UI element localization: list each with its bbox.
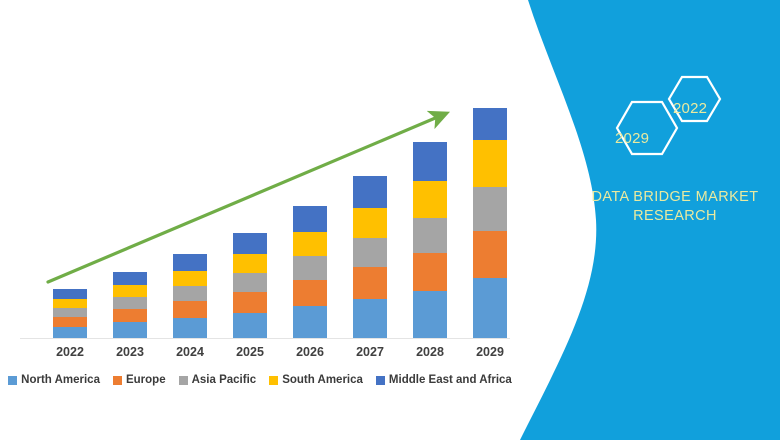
bar-2028 (413, 142, 447, 338)
bar-segment-2029-north-america (473, 278, 507, 338)
axis-baseline (20, 338, 510, 339)
x-tick-2023: 2023 (100, 345, 160, 359)
x-tick-2028: 2028 (400, 345, 460, 359)
bar-segment-2023-asia-pacific (113, 297, 147, 309)
market-growth-chart-page: 20222023202420252026202720282029 North A… (0, 0, 780, 440)
bar-segment-2026-asia-pacific (293, 256, 327, 280)
bar-segment-2024-asia-pacific (173, 286, 207, 301)
bar-segment-2028-middle-east-and-africa (413, 142, 447, 181)
bar-segment-2023-north-america (113, 322, 147, 338)
bar-segment-2024-europe (173, 301, 207, 318)
bar-2022 (53, 289, 87, 338)
bar-segment-2025-europe (233, 292, 267, 313)
bar-2029 (473, 108, 507, 338)
bar-segment-2025-north-america (233, 313, 267, 338)
bar-2025 (233, 233, 267, 338)
bar-segment-2028-south-america (413, 181, 447, 218)
bar-segment-2022-south-america (53, 299, 87, 308)
legend-swatch-icon (269, 376, 278, 385)
legend-swatch-icon (8, 376, 17, 385)
bar-segment-2022-europe (53, 317, 87, 327)
x-tick-2027: 2027 (340, 345, 400, 359)
x-tick-2026: 2026 (280, 345, 340, 359)
brand-company-line1: DATA BRIDGE MARKET (570, 188, 780, 207)
legend-label: Asia Pacific (192, 374, 257, 386)
bar-2027 (353, 176, 387, 338)
bar-segment-2027-north-america (353, 299, 387, 338)
bar-2023 (113, 272, 147, 338)
hexagon-2029-label: 2029 (615, 130, 649, 147)
bar-segment-2022-north-america (53, 327, 87, 338)
bar-segment-2027-south-america (353, 208, 387, 238)
legend-label: South America (282, 374, 363, 386)
legend-item-middle-east-and-africa[interactable]: Middle East and Africa (376, 374, 512, 386)
bar-2024 (173, 254, 207, 338)
bar-segment-2028-asia-pacific (413, 218, 447, 253)
bar-group (20, 20, 510, 338)
hexagon-logo-group: 2029 2022 (570, 70, 780, 160)
bar-segment-2029-europe (473, 231, 507, 278)
bar-segment-2028-europe (413, 253, 447, 291)
legend-label: North America (21, 374, 100, 386)
legend-label: Middle East and Africa (389, 374, 512, 386)
bar-segment-2026-north-america (293, 306, 327, 338)
x-tick-2022: 2022 (40, 345, 100, 359)
bar-segment-2027-europe (353, 267, 387, 299)
bar-segment-2029-south-america (473, 140, 507, 187)
bar-segment-2025-middle-east-and-africa (233, 233, 267, 254)
x-axis-tick-labels: 20222023202420252026202720282029 (20, 345, 510, 365)
legend-item-north-america[interactable]: North America (8, 374, 100, 386)
bar-segment-2024-north-america (173, 318, 207, 338)
bar-segment-2023-south-america (113, 285, 147, 297)
bar-segment-2022-asia-pacific (53, 308, 87, 317)
bar-segment-2027-middle-east-and-africa (353, 176, 387, 208)
bar-segment-2026-europe (293, 280, 327, 306)
bar-segment-2027-asia-pacific (353, 238, 387, 267)
legend-swatch-icon (376, 376, 385, 385)
x-tick-2029: 2029 (460, 345, 520, 359)
bar-segment-2023-europe (113, 309, 147, 322)
legend-label: Europe (126, 374, 166, 386)
bar-segment-2023-middle-east-and-africa (113, 272, 147, 285)
bar-segment-2029-asia-pacific (473, 187, 507, 231)
chart-legend: North AmericaEuropeAsia PacificSouth Ame… (0, 374, 520, 386)
bar-segment-2024-middle-east-and-africa (173, 254, 207, 271)
brand-company-name: DATA BRIDGE MARKET RESEARCH (570, 188, 780, 226)
hexagon-2022-label: 2022 (673, 100, 707, 117)
brand-company-line2: RESEARCH (570, 207, 780, 226)
chart-container: 20222023202420252026202720282029 North A… (0, 0, 520, 440)
bar-segment-2029-middle-east-and-africa (473, 108, 507, 140)
bar-segment-2024-south-america (173, 271, 207, 286)
legend-item-south-america[interactable]: South America (269, 374, 363, 386)
legend-item-asia-pacific[interactable]: Asia Pacific (179, 374, 257, 386)
brand-content: 2029 2022 DATA BRIDGE MARKET RESEARCH (570, 70, 780, 226)
bar-segment-2028-north-america (413, 291, 447, 338)
legend-swatch-icon (113, 376, 122, 385)
legend-swatch-icon (179, 376, 188, 385)
legend-item-europe[interactable]: Europe (113, 374, 166, 386)
bar-segment-2025-asia-pacific (233, 273, 267, 292)
x-tick-2025: 2025 (220, 345, 280, 359)
bar-segment-2026-south-america (293, 232, 327, 256)
x-tick-2024: 2024 (160, 345, 220, 359)
bar-2026 (293, 206, 327, 338)
bar-segment-2022-middle-east-and-africa (53, 289, 87, 299)
bar-segment-2026-middle-east-and-africa (293, 206, 327, 232)
bar-segment-2025-south-america (233, 254, 267, 273)
